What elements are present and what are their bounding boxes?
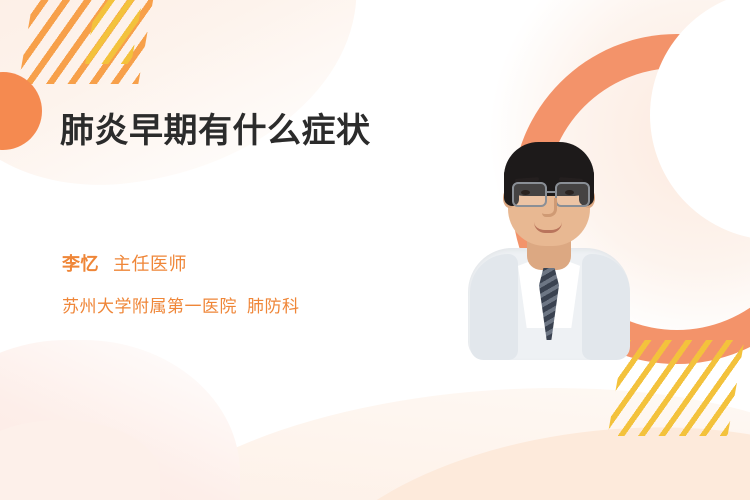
- eye-left: [521, 190, 530, 195]
- speaker-affiliation: 苏州大学附属第一医院肺防科: [62, 292, 300, 317]
- bottom-left-blob-secondary: [0, 420, 160, 500]
- top-left-orange-stripes: [18, 0, 157, 84]
- speaker-name: 李忆: [62, 254, 99, 274]
- page-title: 肺炎早期有什么症状: [60, 110, 410, 154]
- speaker-byline: 李忆主任医师: [62, 250, 187, 276]
- department-name: 肺防科: [247, 297, 300, 316]
- coat-shadow-right: [582, 254, 630, 360]
- bottom-left-blob-shape: [0, 340, 240, 500]
- left-orange-circle: [0, 72, 42, 150]
- top-left-wash-shape: [0, 0, 375, 201]
- doctor-portrait: [460, 122, 638, 360]
- bottom-curve-shape-secondary: [286, 398, 750, 500]
- video-cover-card: 肺炎早期有什么症状 李忆主任医师 苏州大学附属第一医院肺防科: [0, 0, 750, 500]
- nose: [542, 198, 557, 217]
- bottom-curve-shape: [110, 364, 750, 500]
- doctor-figure: [460, 122, 638, 360]
- top-left-yellow-stripes: [85, 0, 145, 64]
- hospital-name: 苏州大学附属第一医院: [62, 297, 237, 316]
- coat-shadow-left: [470, 254, 518, 360]
- lens-right: [555, 182, 590, 207]
- eye-right: [565, 190, 574, 195]
- glasses-bridge: [545, 191, 555, 193]
- ring-mask-shape: [650, 0, 750, 240]
- speaker-role: 主任医师: [113, 254, 187, 274]
